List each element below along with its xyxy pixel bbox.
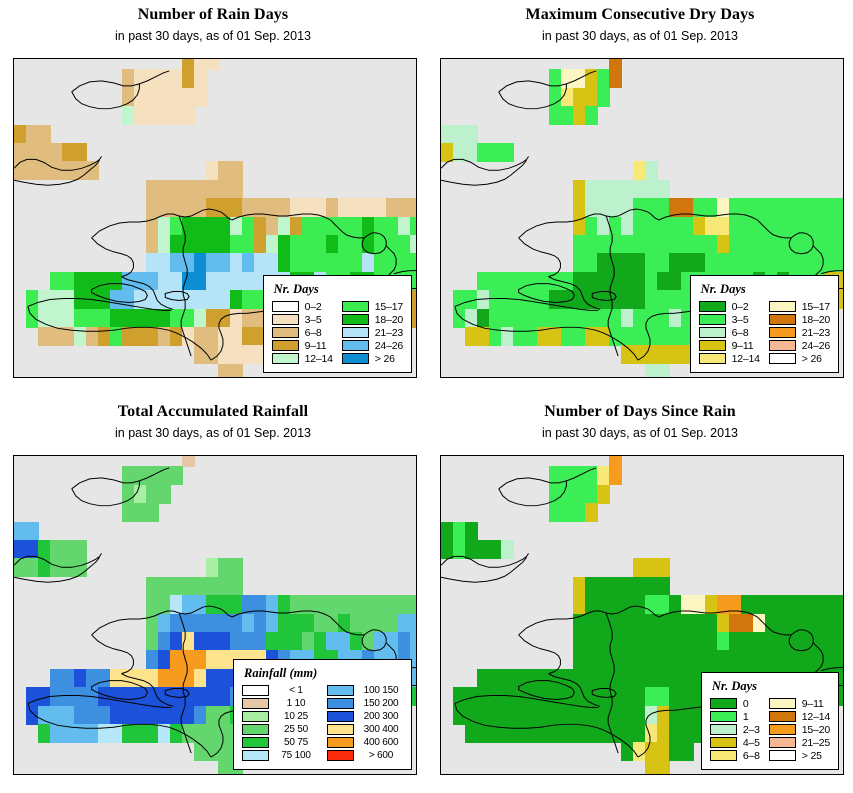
grid-cell [549,106,562,125]
legend-swatch [699,314,726,326]
grid-cell [62,290,75,309]
grid-cell [206,217,219,236]
grid-cell [218,650,231,669]
grid-cell [110,706,123,725]
grid-cell [693,253,706,272]
grid-cell [98,327,111,346]
legend-swatch [242,698,269,710]
grid-cell [501,724,514,743]
grid-cell [278,217,291,236]
grid-cell [669,345,682,364]
grid-cell [657,614,670,633]
grid-cell [386,217,399,236]
legend-label: 9–11 [732,340,754,352]
grid-cell [513,706,526,725]
grid-cell [158,253,171,272]
grid-cell [645,632,658,651]
legend-entry: 300 400 [327,723,403,736]
grid-cell [765,235,778,254]
grid-cell [717,595,730,614]
legend-label: 6–8 [732,327,749,339]
grid-cell [549,309,562,328]
panel-subtitle: in past 30 days, as of 01 Sep. 2013 [0,29,426,43]
grid-cell [374,595,387,614]
grid-cell [573,198,586,217]
grid-cell [705,198,718,217]
grid-cell [290,217,303,236]
grid-cell [621,235,634,254]
grid-cell [86,687,99,706]
map-plot-area[interactable]: Rainfall (mm)< 11 1010 2525 5050 7575 10… [13,455,417,775]
grid-cell [182,614,195,633]
grid-cell [669,327,682,346]
grid-cell [26,687,39,706]
grid-cell [717,632,730,651]
grid-cell [230,272,243,291]
grid-cell [206,58,219,70]
grid-cell [350,595,363,614]
grid-cell [290,235,303,254]
grid-cell [218,290,231,309]
grid-cell [561,669,574,688]
grid-cell [374,614,387,633]
grid-cell [50,290,63,309]
grid-cell [657,217,670,236]
grid-cell [777,632,790,651]
map-plot-area[interactable]: Nr. Days0–23–56–89–1112–1415–1718–2021–2… [13,58,417,378]
grid-cell [645,595,658,614]
grid-cell [501,143,514,162]
grid-cell [645,235,658,254]
legend-swatch [272,340,299,352]
grid-cell [777,235,790,254]
legend-entry: 3–5 [272,313,333,326]
grid-cell [585,669,598,688]
grid-cell [573,180,586,199]
grid-cell [254,614,267,633]
grid-cell [633,742,646,761]
grid-cell [98,669,111,688]
legend-label: 18–20 [802,314,830,326]
grid-cell [465,706,478,725]
grid-cell [206,235,219,254]
legend-entry: 0–2 [699,300,760,313]
legend-swatch [342,353,369,365]
grid-cell [597,272,610,291]
grid-cell [453,125,466,144]
grid-cell [609,235,622,254]
grid-cell [837,614,844,633]
grid-cell [242,290,255,309]
grid-cell [621,309,634,328]
grid-cell [206,327,219,346]
grid-cell [477,669,490,688]
grid-cell [194,595,207,614]
grid-cell [194,327,207,346]
grid-cell [206,595,219,614]
grid-cell [621,327,634,346]
legend-entry: 1 [710,710,760,723]
grid-cell [254,217,267,236]
legend-label: 1 10 [274,698,318,709]
grid-cell [326,595,339,614]
legend-swatch [769,327,796,339]
grid-cell [278,614,291,633]
grid-cell [326,217,339,236]
grid-cell [729,595,742,614]
map-plot-area[interactable]: Nr. Days0–23–56–89–1112–1415–1718–2021–2… [440,58,844,378]
grid-cell [110,327,123,346]
grid-cell [398,614,411,633]
grid-cell [597,235,610,254]
grid-cell [170,577,183,596]
grid-cell [489,143,502,162]
grid-cell [206,180,219,199]
grid-cell [170,69,183,88]
grid-cell [122,706,135,725]
grid-cell [326,614,339,633]
grid-cell [573,217,586,236]
grid-cell [242,198,255,217]
grid-cell [789,632,802,651]
grid-cell [410,235,417,254]
legend-entry: 1 10 [242,697,318,710]
grid-cell [146,706,159,725]
grid-cell [206,558,219,577]
grid-cell [609,632,622,651]
grid-cell [741,253,754,272]
grid-cell [513,290,526,309]
grid-cell [825,235,838,254]
grid-cell [585,632,598,651]
grid-cell [741,595,754,614]
grid-cell [122,687,135,706]
grid-cell [290,253,303,272]
grid-cell [362,217,375,236]
grid-cell [801,595,814,614]
grid-cell [338,235,351,254]
grid-cell [549,669,562,688]
grid-cell [753,595,766,614]
grid-cell [134,503,147,522]
grid-cell [26,522,39,541]
grid-cell [410,253,417,272]
grid-cell [669,650,682,669]
grid-cell [182,253,195,272]
legend-entry: 200 300 [327,710,403,723]
legend-rain-days: Nr. Days0–23–56–89–1112–1415–1718–2021–2… [263,275,412,373]
grid-cell [146,106,159,125]
grid-cell [693,217,706,236]
legend-swatch [710,711,737,723]
grid-cell [62,724,75,743]
grid-cell [38,290,51,309]
grid-cell [777,614,790,633]
grid-cell [657,706,670,725]
legend-column: < 11 1010 2525 5050 7575 100 [242,684,318,762]
grid-cell [609,614,622,633]
grid-cell [302,632,315,651]
grid-cell [645,687,658,706]
grid-cell [717,253,730,272]
grid-cell [489,327,502,346]
grid-cell [597,290,610,309]
grid-cell [597,706,610,725]
legend-columns: 0–23–56–89–1112–1415–1718–2021–2324–26> … [699,300,830,365]
grid-cell [218,217,231,236]
legend-swatch [769,750,796,762]
legend-label: 18–20 [375,314,403,326]
grid-cell [681,687,694,706]
grid-cell [525,290,538,309]
grid-cell [62,558,75,577]
grid-cell [122,290,135,309]
grid-cell [254,198,267,217]
grid-cell [350,253,363,272]
grid-cell [158,466,171,485]
grid-cell [585,327,598,346]
legend-label: 2–3 [743,724,760,736]
grid-cell [609,309,622,328]
grid-cell [278,235,291,254]
legend-label: > 26 [802,353,822,365]
grid-cell [489,290,502,309]
grid-cell [453,309,466,328]
grid-cell [62,309,75,328]
panel-subtitle: in past 30 days, as of 01 Sep. 2013 [427,29,853,43]
grid-cell [513,272,526,291]
legend-label: < 1 [274,685,318,696]
legend-entry: 0 [710,697,760,710]
grid-cell [158,485,171,504]
grid-cell [717,650,730,669]
grid-cell [477,540,490,559]
grid-cell [705,614,718,633]
grid-cell [38,327,51,346]
grid-cell [62,161,75,180]
grid-cell [62,669,75,688]
grid-cell [573,88,586,107]
grid-cell [561,485,574,504]
legend-entry: 400 600 [327,736,403,749]
grid-cell [218,198,231,217]
grid-cell [621,742,634,761]
grid-cell [134,724,147,743]
grid-cell [122,309,135,328]
grid-cell [561,106,574,125]
legend-label: 21–23 [802,327,830,339]
grid-cell [513,669,526,688]
grid-cell [585,217,598,236]
grid-cell [657,632,670,651]
grid-cell [50,143,63,162]
grid-cell [86,161,99,180]
grid-cell [266,614,279,633]
grid-cell [338,614,351,633]
grid-cell [753,614,766,633]
grid-cell [765,253,778,272]
grid-cell [326,235,339,254]
grid-cell [621,198,634,217]
grid-cell [765,614,778,633]
grid-cell [681,253,694,272]
grid-cell [609,650,622,669]
grid-cell [182,455,195,467]
grid-cell [633,217,646,236]
grid-cell [62,706,75,725]
grid-cell [729,253,742,272]
legend-entry: 25 50 [242,723,318,736]
grid-cell [242,235,255,254]
grid-cell [465,143,478,162]
grid-cell [609,724,622,743]
grid-cell [477,290,490,309]
grid-cell [525,706,538,725]
legend-max-consecutive-dry-days: Nr. Days0–23–56–89–1112–1415–1718–2021–2… [690,275,839,373]
grid-cell [290,198,303,217]
grid-cell [585,614,598,633]
grid-cell [705,253,718,272]
map-plot-area[interactable]: Nr. Days012–34–56–89–1112–1415–2021–25> … [440,455,844,775]
legend-label: 6–8 [743,750,760,762]
legend-label: > 25 [802,750,822,762]
grid-cell [206,614,219,633]
grid-cell [134,309,147,328]
grid-cell [609,69,622,88]
grid-cell [182,235,195,254]
legend-entry: 21–25 [769,736,830,749]
grid-cell [705,595,718,614]
legend-column: 100 150150 200200 300300 400400 600> 600 [327,684,403,762]
legend-label: 0 [743,698,749,710]
grid-cell [765,632,778,651]
legend-swatch [242,711,269,723]
grid-cell [182,650,195,669]
legend-label: 24–26 [375,340,403,352]
grid-cell [158,69,171,88]
legend-label: 9–11 [802,698,824,710]
grid-cell [465,540,478,559]
grid-cell [597,614,610,633]
grid-cell [585,106,598,125]
grid-cell [645,253,658,272]
grid-cell [26,706,39,725]
grid-cell [110,290,123,309]
grid-cell [597,217,610,236]
grid-cell [26,540,39,559]
grid-cell [194,650,207,669]
grid-cell [14,522,27,541]
grid-cell [561,309,574,328]
grid-cell [777,253,790,272]
grid-cell [194,309,207,328]
legend-entry: 15–17 [769,300,830,313]
grid-cell [789,614,802,633]
grid-cell [645,290,658,309]
legend-swatch [342,301,369,313]
grid-cell [669,198,682,217]
grid-cell [561,88,574,107]
grid-cell [62,540,75,559]
grid-cell [549,687,562,706]
grid-cell [657,253,670,272]
grid-cell [669,614,682,633]
grid-cell [693,235,706,254]
legend-label: > 600 [359,750,403,761]
legend-swatch [699,301,726,313]
grid-cell [374,198,387,217]
grid-cell [182,88,195,107]
grid-cell [825,253,838,272]
grid-cell [729,217,742,236]
grid-cell [621,345,634,364]
grid-cell [801,614,814,633]
grid-cell [465,309,478,328]
legend-swatch [769,724,796,736]
grid-cell [110,724,123,743]
grid-cell [501,706,514,725]
grid-cell [681,217,694,236]
grid-cell [681,632,694,651]
grid-cell [621,632,634,651]
legend-column: 15–1718–2021–2324–26> 26 [342,300,403,365]
grid-cell [681,650,694,669]
grid-cell [777,650,790,669]
grid-cell [765,198,778,217]
grid-cell [537,290,550,309]
grid-cell [753,650,766,669]
grid-cell [338,632,351,651]
grid-cell [489,272,502,291]
grid-cell [633,595,646,614]
grid-cell [62,327,75,346]
panel-days-since-rain: Number of Days Since Rainin past 30 days… [427,397,853,793]
grid-cell [825,614,838,633]
grid-cell [182,577,195,596]
legend-swatch [769,340,796,352]
grid-cell [194,69,207,88]
grid-cell [621,272,634,291]
grid-cell [362,235,375,254]
legend-swatch [710,737,737,749]
grid-cell [242,309,255,328]
grid-cell [501,309,514,328]
legend-label: 100 150 [359,685,403,696]
grid-cell [218,577,231,596]
grid-cell [645,669,658,688]
legend-swatch [242,737,269,749]
grid-cell [633,309,646,328]
grid-cell [633,650,646,669]
legend-columns: < 11 1010 2525 5050 7575 100100 150150 2… [242,684,403,762]
legend-swatch [769,301,796,313]
grid-cell [374,235,387,254]
grid-cell [573,724,586,743]
grid-cell [609,687,622,706]
grid-cell [537,724,550,743]
legend-swatch [327,724,354,736]
grid-cell [50,724,63,743]
grid-cell [477,327,490,346]
grid-cell [62,272,75,291]
grid-cell [585,88,598,107]
grid-cell [645,650,658,669]
grid-cell [194,198,207,217]
grid-cell [669,724,682,743]
grid-cell [561,706,574,725]
grid-cell [218,327,231,346]
grid-cell [302,595,315,614]
